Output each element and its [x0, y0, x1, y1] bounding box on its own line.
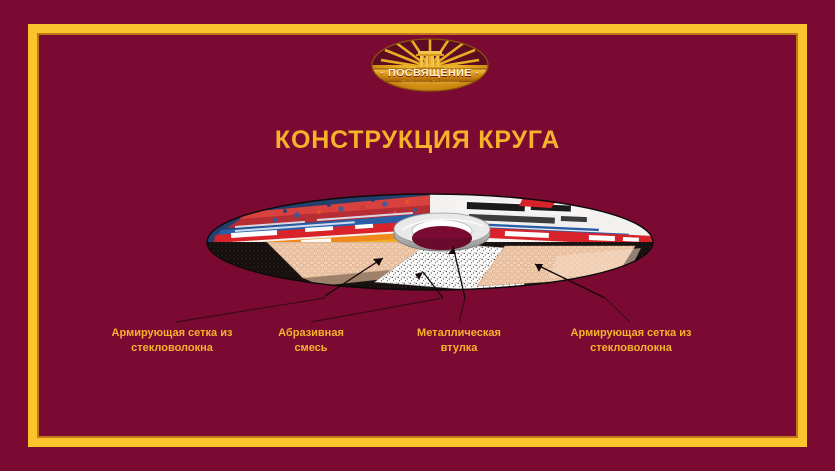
company-logo: · ПОСВЯЩЕНИЕ · Надежная Компания [371, 38, 489, 92]
callout-abrasive-line1: Абразивная [256, 326, 366, 341]
callout-bushing: Металлическая втулка [383, 326, 535, 356]
logo-wordmark: · ПОСВЯЩЕНИЕ · [371, 67, 489, 79]
callout-bushing-line1: Металлическая [383, 326, 535, 341]
callout-fiberglass-left-line2: стекловолокна [84, 341, 260, 356]
disc-artwork [205, 186, 655, 298]
cutting-disc-diagram [205, 186, 655, 298]
slide-root: · ПОСВЯЩЕНИЕ · Надежная Компания КОНСТРУ… [0, 0, 835, 471]
callout-fiberglass-left: Армирующая сетка из стекловолокна [84, 326, 260, 356]
callout-bushing-line2: втулка [383, 341, 535, 356]
logo-tagline: Надежная Компания [371, 79, 489, 86]
callout-abrasive-line2: смесь [256, 341, 366, 356]
page-title: КОНСТРУКЦИЯ КРУГА [0, 126, 835, 155]
callout-abrasive: Абразивная смесь [256, 326, 366, 356]
callout-fiberglass-left-line1: Армирующая сетка из [84, 326, 260, 341]
callout-fiberglass-right-line2: стекловолокна [543, 341, 719, 356]
callout-fiberglass-right: Армирующая сетка из стекловолокна [543, 326, 719, 356]
callout-fiberglass-right-line1: Армирующая сетка из [543, 326, 719, 341]
